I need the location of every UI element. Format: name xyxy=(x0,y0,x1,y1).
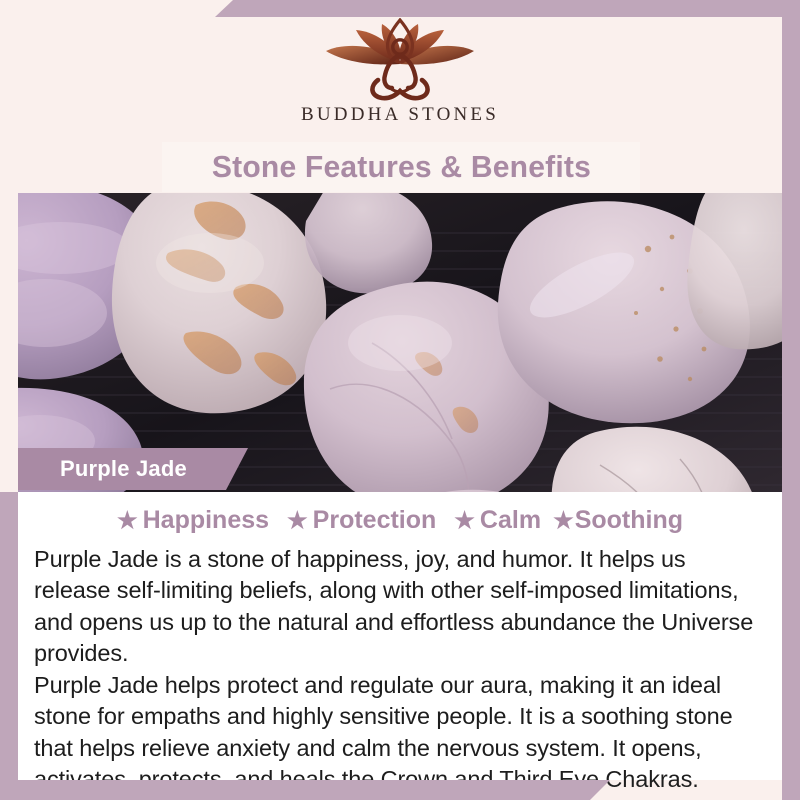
lotus-meditation-logo-icon xyxy=(310,18,490,102)
poster-root: BUDDHA STONES Stone Features & Benefits xyxy=(0,0,800,800)
star-icon: ★ xyxy=(117,509,138,532)
description-panel: ★ Happiness ★ Protection ★ Calm ★ Soothi… xyxy=(18,492,782,780)
star-icon: ★ xyxy=(454,509,475,532)
benefit-item-soothing: ★ Soothing xyxy=(553,506,683,535)
brand-logo: BUDDHA STONES xyxy=(0,18,800,138)
stone-name-label: Purple Jade xyxy=(18,456,187,482)
frame-left-mask xyxy=(0,0,18,492)
purple-jade-stones-photo xyxy=(0,193,782,492)
benefits-row: ★ Happiness ★ Protection ★ Calm ★ Soothi… xyxy=(28,496,772,544)
frame-right-bar xyxy=(782,0,800,800)
page-title: Stone Features & Benefits xyxy=(211,149,590,185)
description-paragraph-2: Purple Jade helps protect and regulate o… xyxy=(28,670,772,796)
stone-name-ribbon: Purple Jade xyxy=(18,448,248,490)
benefit-label: Protection xyxy=(313,506,437,535)
stones-illustration xyxy=(0,193,782,492)
frame-bottom-bar xyxy=(0,780,610,800)
star-icon: ★ xyxy=(553,509,574,532)
benefit-label: Soothing xyxy=(575,506,683,535)
frame-top-bar xyxy=(215,0,800,17)
benefit-label: Calm xyxy=(480,506,541,535)
benefit-label: Happiness xyxy=(143,506,269,535)
description-paragraph-1: Purple Jade is a stone of happiness, joy… xyxy=(28,544,772,670)
brand-name: BUDDHA STONES xyxy=(301,104,499,126)
benefit-item-protection: ★ Protection xyxy=(287,506,436,535)
benefit-item-happiness: ★ Happiness xyxy=(117,506,269,535)
star-icon: ★ xyxy=(287,509,308,532)
benefit-item-calm: ★ Calm xyxy=(454,506,541,535)
title-banner: Stone Features & Benefits xyxy=(162,142,640,192)
